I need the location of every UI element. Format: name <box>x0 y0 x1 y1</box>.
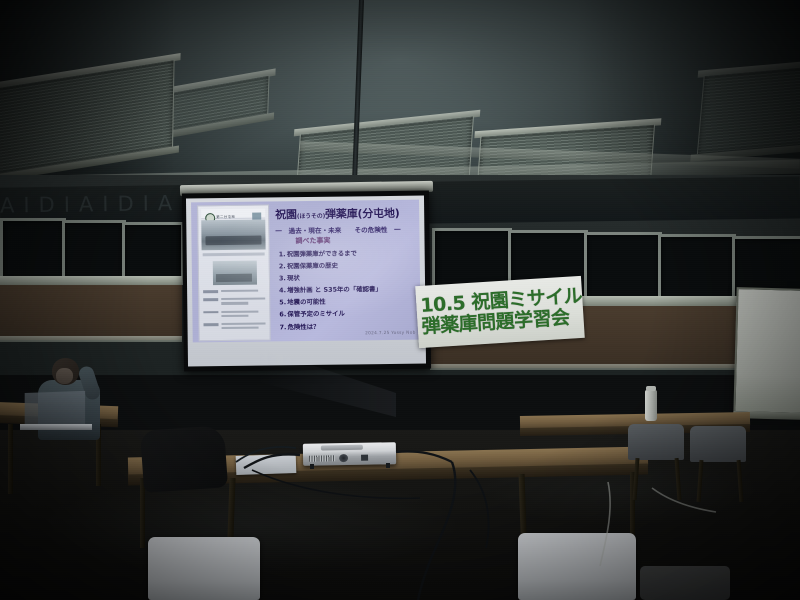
screen-surface: 第二分屯地 <box>186 196 426 367</box>
list-item-number: 6. <box>279 311 287 319</box>
row-label <box>203 311 218 314</box>
wall-wainscot <box>0 285 182 340</box>
list-item-number: 2. <box>279 262 287 270</box>
row-label <box>203 290 218 293</box>
projector-foot <box>386 463 390 468</box>
row-values <box>222 322 266 331</box>
attendee-face <box>56 368 73 384</box>
table-row <box>203 298 265 307</box>
list-item: 2.祝園保薬庫の歴史 <box>279 260 417 271</box>
table-row <box>204 322 266 331</box>
slide-document-image: 第二分屯地 <box>197 204 271 341</box>
list-item-label: 増強計画 と S35年の「確認書」 <box>287 285 382 294</box>
projector-port <box>361 455 368 461</box>
slide-subtitle-secondary: 調べた事実 <box>295 235 416 246</box>
slide-agenda-list: 1.祝園弾薬庫ができるまで 2.祝園保薬庫の歴史 3.現状 4.増強計画 と S… <box>279 248 418 331</box>
night-window <box>584 232 662 304</box>
window-sill <box>0 276 182 285</box>
table-row <box>203 290 265 295</box>
laptop-screen <box>25 391 85 427</box>
document-header: 第二分屯地 <box>201 209 265 220</box>
projector-foot <box>310 464 314 469</box>
list-item: 1.祝園弾薬庫ができるまで <box>279 248 417 259</box>
event-banner: 10.5 祝園ミサイル 弾薬庫問題学習会 <box>415 276 585 348</box>
row-values <box>221 298 265 307</box>
stacking-chair <box>628 424 684 460</box>
list-item-number: 7. <box>280 323 288 331</box>
slide-footer: 2024.7.25 Yossy Nob <box>365 331 416 337</box>
window-sill <box>0 336 182 342</box>
night-window <box>62 220 126 284</box>
slide-subtitle: 一 過去・現在・未来 その危険性 一 <box>275 224 416 236</box>
projector-lens <box>339 454 348 462</box>
table-row <box>203 310 265 319</box>
black-bag <box>140 425 228 493</box>
list-item: 3.現状 <box>279 272 417 283</box>
stacking-chair <box>148 537 260 600</box>
list-item-label: 現状 <box>287 274 300 282</box>
document-photo-second <box>213 261 257 286</box>
list-item-label: 祝園弾薬庫ができるまで <box>287 249 357 258</box>
chair-seat <box>640 566 730 600</box>
list-item-label: 危険性は？ <box>288 322 320 330</box>
list-item-label: 地震の可能性 <box>287 298 325 306</box>
projector-top-panel <box>321 445 363 451</box>
document-table <box>203 290 266 338</box>
bottle-cap <box>646 386 656 391</box>
list-item-number: 5. <box>279 299 287 307</box>
stacking-chair <box>518 533 636 600</box>
row-label <box>203 298 218 301</box>
row-values <box>221 290 265 295</box>
list-item-label: 保管予定のミサイル <box>287 310 345 319</box>
row-label <box>204 323 219 326</box>
night-window <box>0 218 66 282</box>
list-item: 4.増強計画 と S35年の「確認書」 <box>279 284 417 295</box>
table-leg <box>8 424 13 494</box>
laptop-keyboard <box>20 424 92 430</box>
slide-text-block: 祝園(ほうその)弾薬庫(分屯地) 一 過去・現在・未来 その危険性 一 調べた事… <box>275 204 418 340</box>
slide-title-ruby: (ほうその) <box>297 213 325 220</box>
list-item-number: 1. <box>279 250 287 258</box>
document-header-text: 第二分屯地 <box>216 214 235 219</box>
list-item: 7.危険性は？ <box>279 320 417 331</box>
slide-title-rest: 弾薬庫(分屯地) <box>325 207 400 221</box>
projection-screen: 第二分屯地 <box>183 186 430 373</box>
whiteboard <box>733 287 800 415</box>
document-caption-line <box>203 253 265 257</box>
screen-frame: 第二分屯地 <box>182 190 431 371</box>
water-bottle <box>645 390 657 421</box>
list-item-label: 祝園保薬庫の歴史 <box>287 262 338 271</box>
projector-vent <box>309 455 335 461</box>
projector <box>303 442 396 466</box>
list-item: 5.地震の可能性 <box>279 296 417 307</box>
slide-title: 祝園(ほうその)弾薬庫(分屯地) <box>275 205 416 223</box>
papers <box>236 454 297 475</box>
stacking-chair <box>690 426 746 462</box>
row-values <box>221 310 265 319</box>
slide-content: 第二分屯地 <box>191 200 421 343</box>
document-photo-top <box>201 219 265 250</box>
room-photo: AIDIAIDIAIDIAIDIAIDI <box>0 0 800 600</box>
list-item-number: 3. <box>279 274 287 282</box>
list-item: 6.保管予定のミサイル <box>279 308 417 319</box>
list-item-number: 4. <box>279 287 287 295</box>
slide-title-main: 祝園 <box>275 208 297 221</box>
